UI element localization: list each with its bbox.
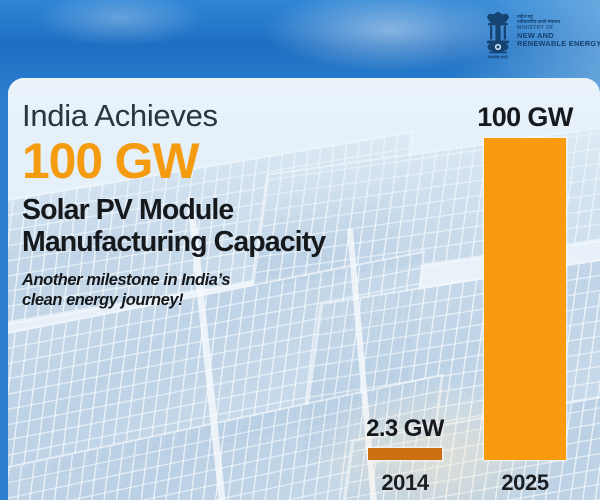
infographic-root: सत्यमेव जयते नवीन एवं नवीकरणीय ऊर्जा मंत…	[0, 0, 600, 500]
bar-2014	[368, 448, 442, 460]
content-card: India Achieves 100 GW Solar PV Module Ma…	[8, 78, 600, 500]
tagline-line2: clean energy journey!	[22, 291, 374, 311]
headline-metric: 100 GW	[22, 133, 374, 189]
tagline-line1: Another milestone in India’s	[22, 271, 374, 291]
bar-value-label-2014: 2.3 GW	[350, 417, 460, 441]
ministry-name-block: नवीन एवं नवीकरणीय ऊर्जा मंत्रालय MINISTR…	[517, 10, 600, 48]
headline-block: India Achieves 100 GW Solar PV Module Ma…	[22, 100, 374, 310]
x-axis-label-2014: 2014	[354, 470, 456, 496]
ministry-of-label: MINISTRY OF	[517, 26, 600, 31]
headline-eyebrow: India Achieves	[22, 100, 374, 131]
ministry-hindi-line2: नवीकरणीय ऊर्जा मंत्रालय	[517, 20, 600, 25]
bar-2025	[484, 138, 566, 460]
headline-subject: Solar PV Module Manufacturing Capacity	[22, 195, 374, 259]
ministry-name-line2: RENEWABLE ENERGY	[517, 40, 600, 48]
ashoka-lion-capital-emblem: सत्यमेव जयते	[483, 10, 513, 62]
tagline: Another milestone in India’s clean energ…	[22, 271, 374, 311]
bar-value-label-2025: 100 GW	[466, 104, 584, 131]
svg-text:सत्यमेव जयते: सत्यमेव जयते	[487, 54, 508, 59]
ministry-logo-lockup: सत्यमेव जयते नवीन एवं नवीकरणीय ऊर्जा मंत…	[483, 10, 595, 68]
capacity-bar-chart: 2.3 GW 100 GW 2014 2025	[360, 78, 600, 500]
x-axis-label-2025: 2025	[470, 470, 580, 496]
